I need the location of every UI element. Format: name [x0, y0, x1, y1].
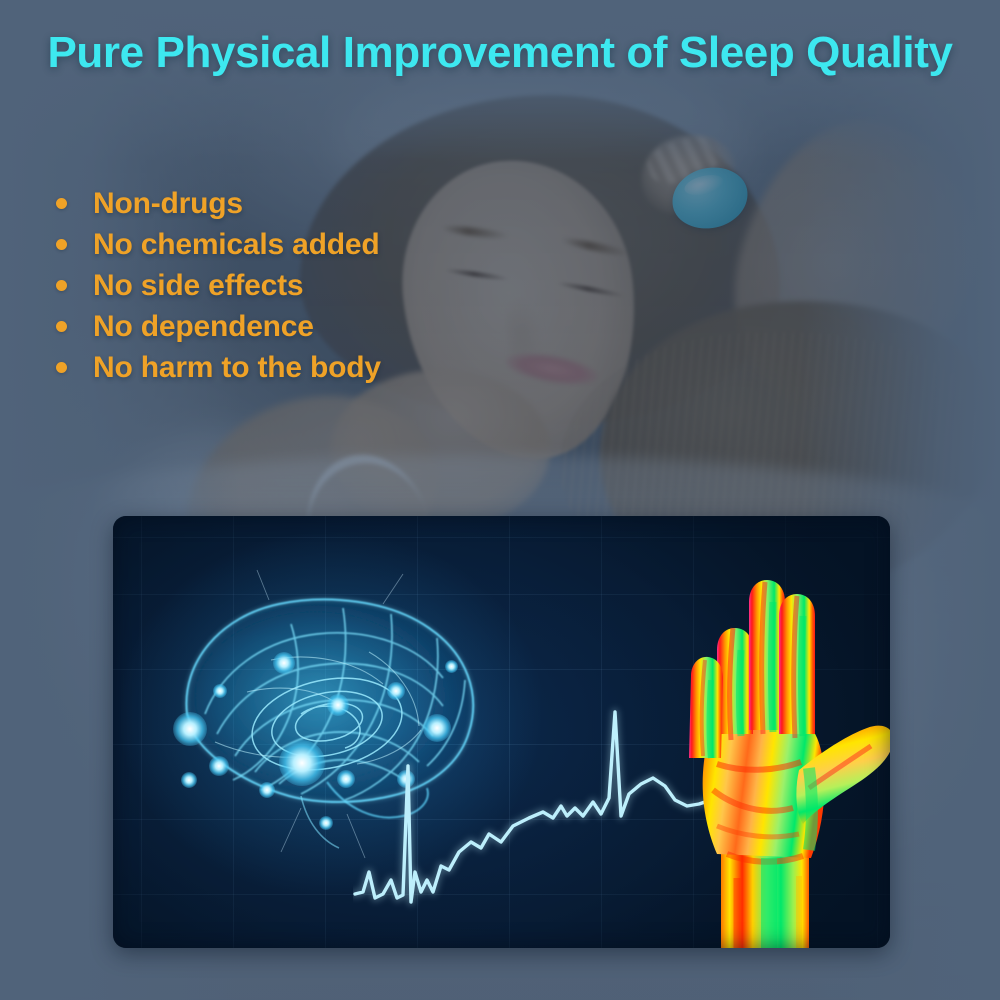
thermal-hand-graphic [613, 558, 890, 948]
bullet-dot-icon [56, 321, 67, 332]
benefits-list: Non-drugs No chemicals added No side eff… [56, 183, 381, 388]
bullet-dot-icon [56, 362, 67, 373]
synapse-node [173, 712, 207, 746]
list-item: No harm to the body [56, 347, 381, 388]
list-item: No side effects [56, 265, 381, 306]
benefit-label: No chemicals added [93, 228, 380, 262]
benefit-label: No dependence [93, 310, 314, 344]
list-item: No dependence [56, 306, 381, 347]
synapse-node [273, 652, 295, 674]
list-item: Non-drugs [56, 183, 381, 224]
synapse-node [213, 684, 227, 698]
benefit-label: Non-drugs [93, 187, 243, 221]
list-item: No chemicals added [56, 224, 381, 265]
benefit-label: No side effects [93, 269, 303, 303]
page-title: Pure Physical Improvement of Sleep Quali… [0, 28, 1000, 78]
synapse-node [319, 816, 333, 830]
benefit-label: No harm to the body [93, 351, 381, 385]
synapse-node [259, 782, 275, 798]
synapse-node [279, 740, 325, 786]
visualization-panel [113, 516, 890, 948]
product-poster: Pure Physical Improvement of Sleep Quali… [0, 0, 1000, 1000]
bullet-dot-icon [56, 239, 67, 250]
synapse-node [181, 772, 197, 788]
thermal-hand-icon [613, 558, 890, 948]
bullet-dot-icon [56, 280, 67, 291]
bullet-dot-icon [56, 198, 67, 209]
synapse-node [327, 694, 349, 716]
synapse-node [209, 756, 229, 776]
